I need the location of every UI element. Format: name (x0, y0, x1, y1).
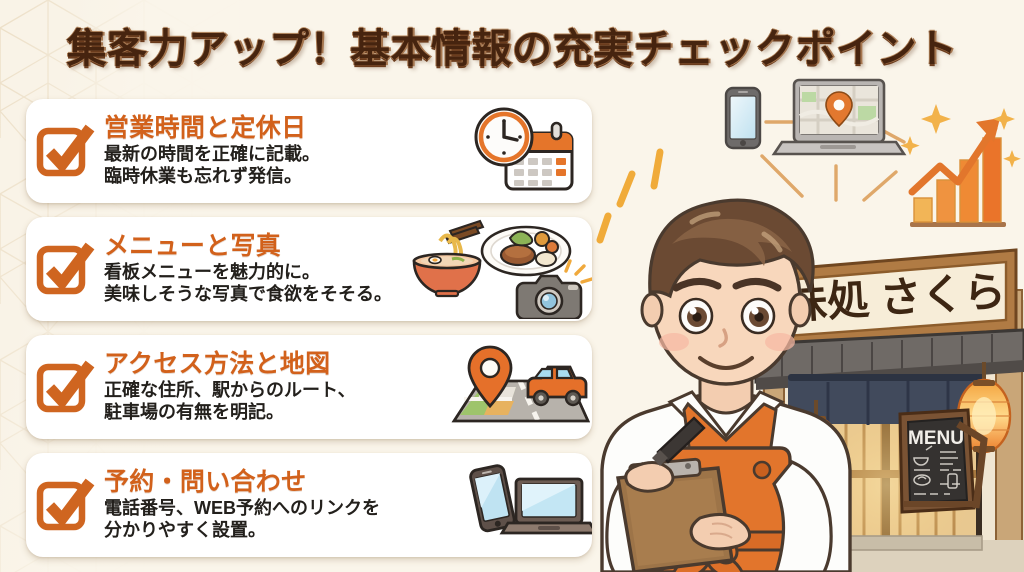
card-title: 予約・問い合わせ (104, 469, 456, 496)
card-title: 営業時間と定休日 (104, 115, 460, 142)
checkbox-checked-icon[interactable] (26, 240, 104, 298)
infographic-canvas: 集客力アップ！基本情報の充実チェックポイント 営業時間と定休日 最新の時間を正確… (0, 0, 1024, 572)
laptop-map-icon (774, 80, 904, 154)
checklist-card-menu[interactable]: メニューと写真 看板メニューを魅力的に。 美味しそうな写真で食欲をそそる。 (26, 217, 592, 321)
checkbox-checked-icon[interactable] (26, 122, 104, 180)
growth-chart-icon (900, 104, 1020, 227)
card-icons-hours (464, 101, 592, 201)
card-icons-access (442, 337, 592, 437)
checklist-text-access: アクセス方法と地図 正確な住所、駅からのルート、 駐車場の有無を明記。 (104, 351, 442, 424)
map-thumbnail (800, 86, 878, 134)
card-body-line-1: 最新の時間を正確に記載。 (104, 144, 460, 166)
checklist: 営業時間と定休日 最新の時間を正確に記載。 臨時休業も忘れず発信。 (26, 99, 592, 571)
card-body-line-2: 分かりやすく設置。 (104, 520, 456, 542)
card-body-line-2: 臨時休業も忘れず発信。 (104, 166, 460, 188)
smartphone-icon (726, 88, 760, 148)
checklist-text-hours: 営業時間と定休日 最新の時間を正確に記載。 臨時休業も忘れず発信。 (104, 115, 464, 188)
checklist-card-hours[interactable]: 営業時間と定休日 最新の時間を正確に記載。 臨時休業も忘れず発信。 (26, 99, 592, 203)
sparkle (900, 104, 1020, 168)
checkbox-checked-icon[interactable] (26, 358, 104, 416)
illustration-shop-owner: 味処 さくら (596, 0, 1024, 572)
ramen-bowl-icon (414, 221, 483, 296)
menu-board-title: MENU (908, 428, 964, 449)
card-icons-menu (406, 219, 592, 319)
laptop-icon (502, 479, 592, 533)
card-body-line-2: 駐車場の有無を明記。 (104, 402, 438, 424)
checklist-text-reservation: 予約・問い合わせ 電話番号、WEB予約へのリンクを 分かりやすく設置。 (104, 469, 460, 542)
card-icons-reservation (460, 455, 592, 555)
card-body-line-1: 正確な住所、駅からのルート、 (104, 380, 438, 402)
checkbox-checked-icon[interactable] (26, 476, 104, 534)
burst-lines (600, 152, 660, 240)
checklist-card-access[interactable]: アクセス方法と地図 正確な住所、駅からのルート、 駐車場の有無を明記。 (26, 335, 592, 439)
card-body-line-1: 電話番号、WEB予約へのリンクを (104, 498, 456, 520)
checklist-card-reservation[interactable]: 予約・問い合わせ 電話番号、WEB予約へのリンクを 分かりやすく設置。 (26, 453, 592, 557)
card-title: アクセス方法と地図 (104, 351, 438, 378)
food-plate-icon (482, 227, 570, 275)
clock-icon (476, 109, 532, 165)
